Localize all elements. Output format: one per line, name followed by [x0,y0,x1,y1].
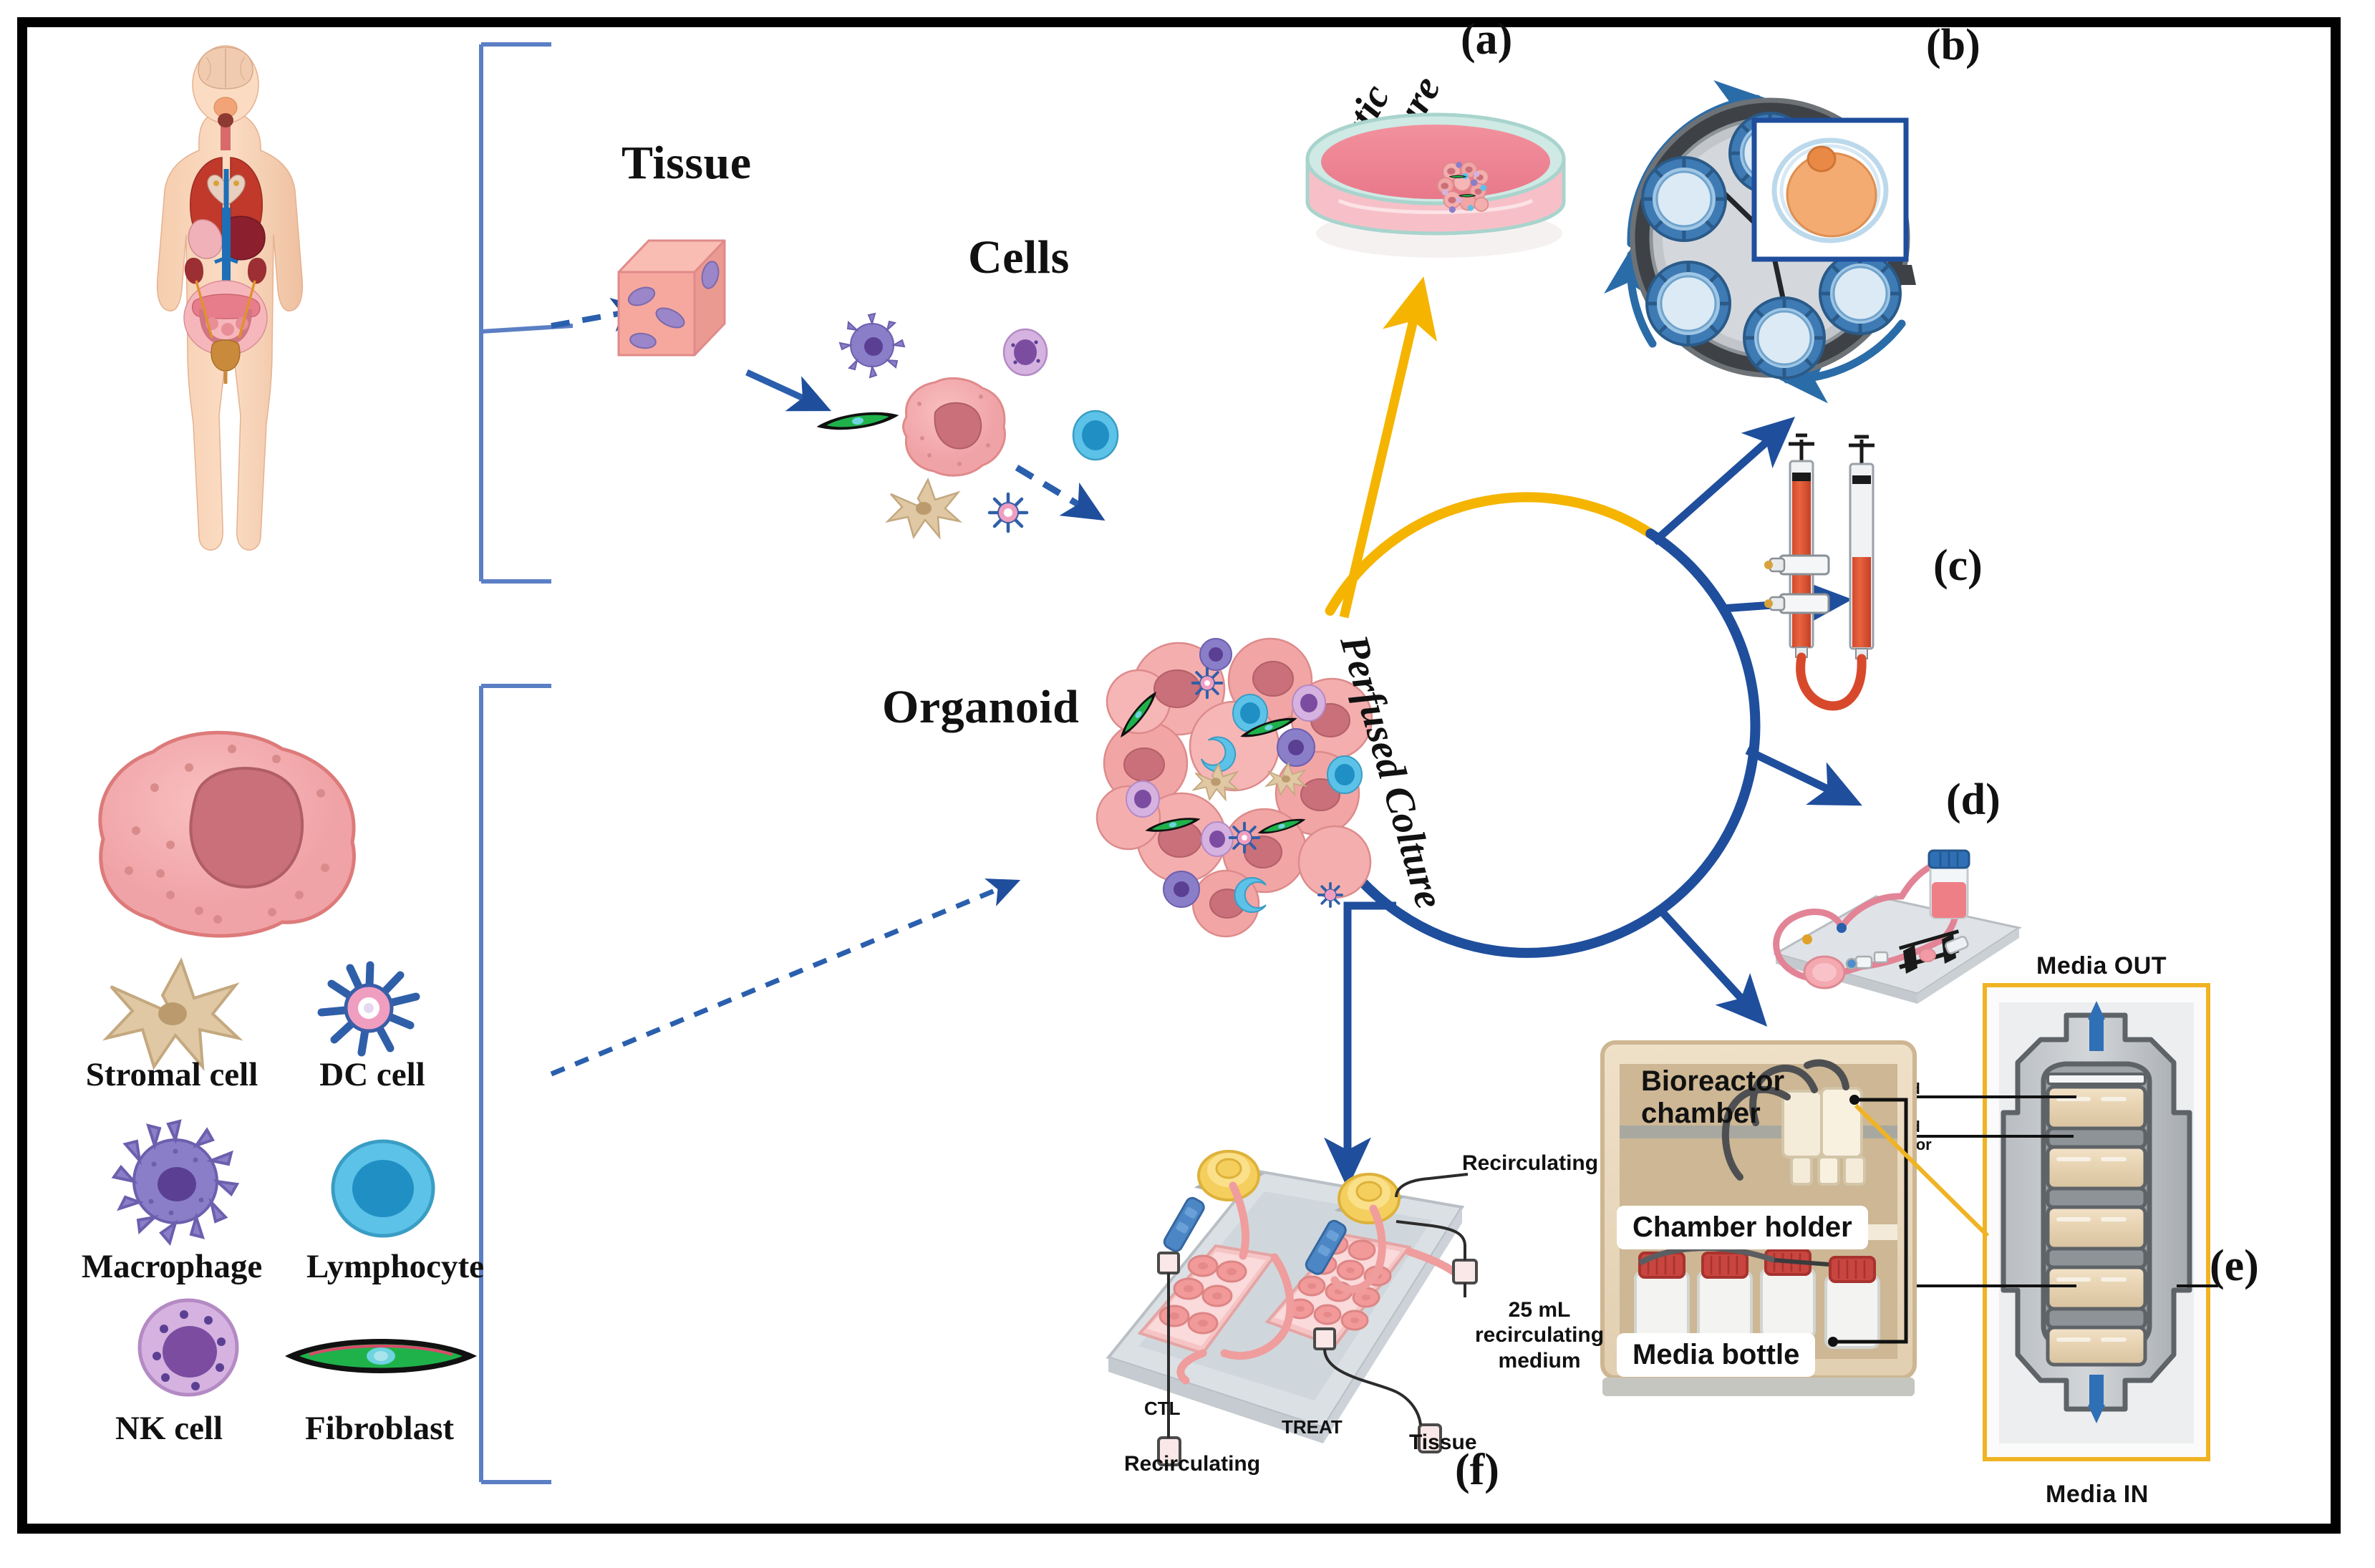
dissociated-cells-illustration [816,301,1160,551]
stromal-cell-icon [105,959,241,1067]
recirculating-medium-line2: recirculating [1475,1322,1604,1347]
lymphocyte-icon [322,1130,444,1252]
recirculating-top-label: Recirculating [1462,1151,1598,1176]
ctl-well-label: CTL [1144,1398,1181,1420]
tumor-cell-illustration [84,716,371,945]
recirculating-medium-label: 25 mL recirculating medium [1475,1297,1604,1373]
legend-label-lymphocyte: Lymphocyte [252,1247,538,1286]
dc-cell-icon [301,952,437,1067]
recirculating-medium-line3: medium [1475,1348,1604,1373]
treat-well-label: TREAT [1282,1416,1343,1438]
scaffold-chamber-illustration [1982,982,2268,1476]
orbital-shaker-illustration [1575,57,1976,415]
bioreactor-chamber-line1: Bioreactor [1641,1065,1784,1098]
media-out-label: Media OUT [2036,952,2167,980]
chamber-holder-label: Chamber holder [1617,1206,1868,1249]
legend-label-dc-cell: DC cell [243,1055,501,1094]
tissue-sample-label: Tissue [1409,1431,1477,1455]
bioreactor-chamber-label: Bioreactor chamber [1641,1065,1784,1130]
tissue-cube-illustration [609,222,766,387]
cells-label: Cells [968,231,1070,285]
human-body-illustration [107,43,344,558]
figure-canvas: Tissue Cells [0,0,2375,1568]
recirculating-bottom-label: Recirculating [1124,1452,1260,1476]
organoid-label: Organoid [882,680,1079,735]
petri-dish-illustration [1296,93,1575,265]
fibroblast-icon [281,1316,481,1395]
tissue-label: Tissue [621,136,752,190]
nk-cell-icon [127,1289,249,1410]
syringe-perfusion-illustration [1754,430,1955,730]
macrophage-icon [107,1118,243,1247]
bracket-top [481,44,573,581]
recirculating-medium-line1: 25 mL [1475,1297,1604,1322]
panel-letter-a: (a) [1461,14,1512,65]
media-bottle-label: Media bottle [1617,1333,1815,1377]
legend-label-fibroblast: Fibroblast [236,1409,523,1448]
arrow-legend-to-organoid [551,882,1015,1074]
bioreactor-chamber-line2: chamber [1641,1098,1784,1130]
orbital-shaker-inset [1754,120,1906,259]
arrow-static-to-petri [1344,286,1421,617]
media-in-label: Media IN [2046,1481,2149,1509]
